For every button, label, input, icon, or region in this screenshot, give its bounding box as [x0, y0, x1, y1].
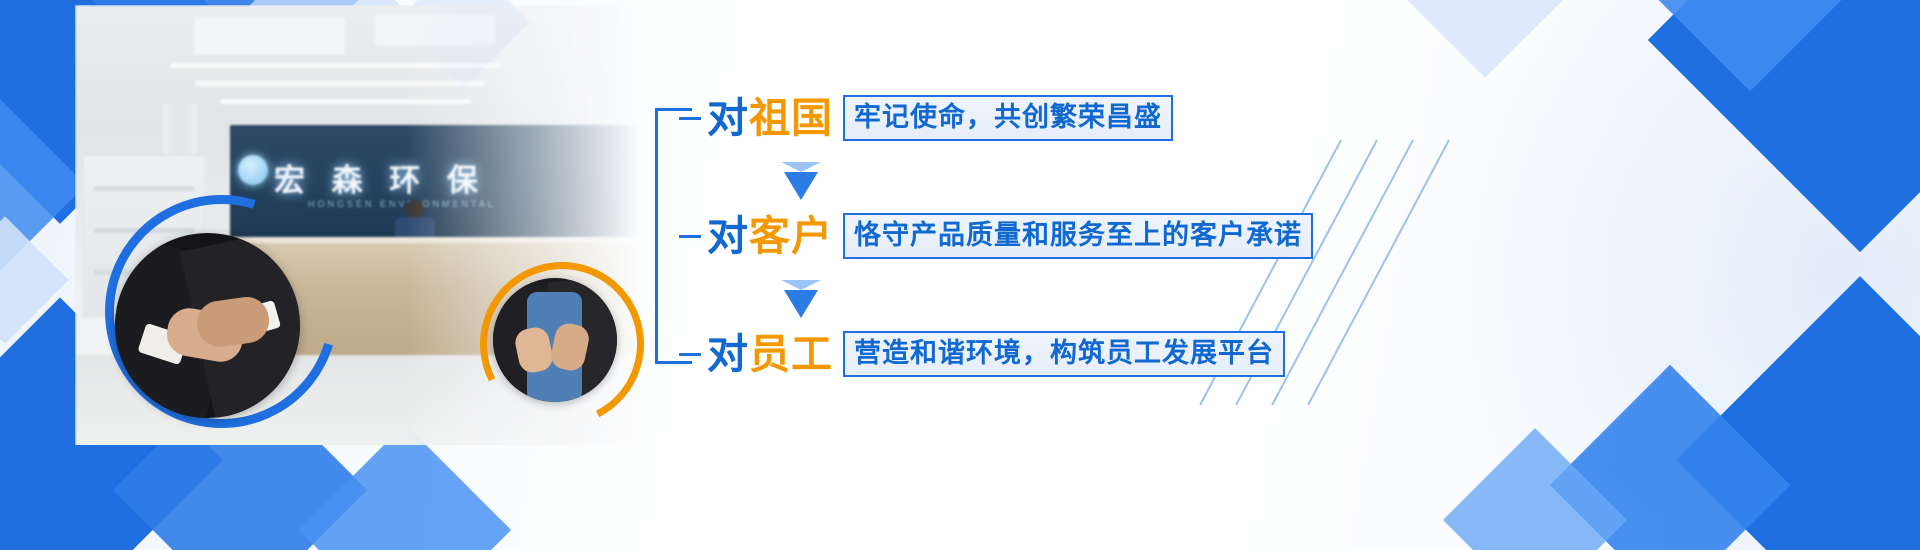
company-logo-icon [238, 155, 268, 185]
value-lead-prefix-customer: 对 [707, 213, 749, 259]
handshake-photo-circle [115, 233, 300, 418]
row-dash-3 [679, 353, 701, 356]
ceiling-light-2 [195, 81, 485, 86]
row-dash-1 [679, 117, 701, 120]
value-statement-country: 牢记使命，共创繁荣昌盛 [843, 95, 1173, 141]
value-row-customer: 对客户 恪守产品质量和服务至上的客户承诺 [679, 208, 1313, 264]
ceiling-panel-1 [195, 19, 345, 55]
value-lead-customer: 对客户 [707, 216, 833, 257]
down-arrow-icon-1 [781, 162, 821, 200]
value-lead-subject-employee: 员工 [749, 331, 833, 377]
receptionist-head [406, 200, 424, 218]
values-rows: 对祖国 牢记使命，共创繁荣昌盛 对客户 恪守产品质量和服务至上的客户承诺 [655, 78, 1355, 388]
arrow-bottom-2 [784, 290, 818, 318]
ceiling-light-1 [170, 63, 500, 68]
value-lead-subject-country: 祖国 [749, 95, 833, 141]
decor-diagonal-lines [1330, 140, 1620, 440]
value-lead-prefix-country: 对 [707, 95, 749, 141]
ceiling-light-3 [220, 99, 470, 104]
shelf-line-1 [94, 186, 194, 191]
arrow-top-1 [781, 162, 821, 172]
value-row-country: 对祖国 牢记使命，共创繁荣昌盛 [679, 90, 1173, 146]
row-dash-2 [679, 235, 701, 238]
value-statement-employee: 营造和谐环境，构筑员工发展平台 [843, 331, 1285, 377]
value-lead-employee: 对员工 [707, 334, 833, 375]
down-arrow-icon-2 [781, 280, 821, 318]
value-lead-prefix-employee: 对 [707, 331, 749, 377]
applause-photo-circle [493, 278, 617, 402]
value-statement-customer: 恪守产品质量和服务至上的客户承诺 [843, 213, 1313, 259]
values-content: 对祖国 牢记使命，共创繁荣昌盛 对客户 恪守产品质量和服务至上的客户承诺 [655, 78, 1355, 388]
company-sign-text: 宏 森 环 保 [274, 155, 487, 200]
arrow-bottom-1 [784, 172, 818, 200]
arrow-top-2 [781, 280, 821, 290]
value-lead-country: 对祖国 [707, 98, 833, 139]
ceiling [75, 5, 645, 125]
value-lead-subject-customer: 客户 [749, 213, 833, 259]
ceiling-panel-2 [375, 15, 495, 45]
company-values-banner: 宏 森 环 保 HONGSEN ENVIRONMENTAL [0, 0, 1920, 550]
value-row-employee: 对员工 营造和谐环境，构筑员工发展平台 [679, 326, 1285, 382]
